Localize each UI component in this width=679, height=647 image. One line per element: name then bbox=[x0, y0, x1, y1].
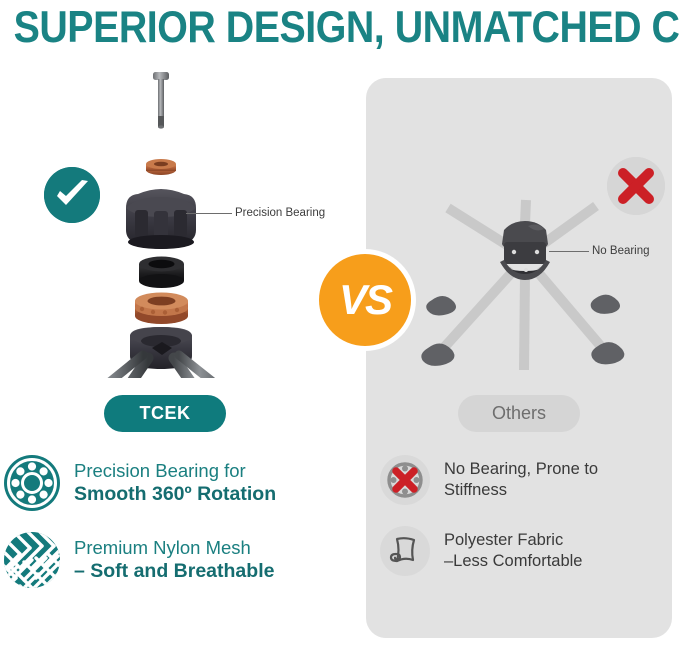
part-bolt bbox=[153, 72, 169, 129]
tcek-feature-list: Precision Bearing for Smooth 360º Rotati… bbox=[4, 455, 344, 609]
page-title: SUPERIOR DESIGN, UNMATCHED COMFORT bbox=[14, 2, 666, 53]
brand-pill-others: Others bbox=[458, 395, 580, 432]
feature-row-precision-bearing: Precision Bearing for Smooth 360º Rotati… bbox=[4, 455, 344, 511]
feature-text-precision-bearing: Precision Bearing for Smooth 360º Rotati… bbox=[74, 459, 276, 508]
feature-line-2: Smooth 360º Rotation bbox=[74, 482, 276, 507]
others-center-hub bbox=[500, 221, 550, 280]
part-spacer-ring bbox=[139, 257, 184, 289]
precision-bearing-leader-line bbox=[186, 213, 232, 214]
part-precision-bearing bbox=[135, 293, 188, 325]
feature-text-polyester-fabric: Polyester Fabric –Less Comfortable bbox=[444, 530, 583, 572]
fabric-roll-icon bbox=[380, 526, 430, 576]
feature-row-nylon-mesh: Premium Nylon Mesh – Soft and Breathable bbox=[4, 532, 344, 588]
feature-text-nylon-mesh: Premium Nylon Mesh – Soft and Breathable bbox=[74, 536, 274, 585]
others-feature-list: No Bearing, Prone to Stiffness Polyester… bbox=[380, 455, 670, 597]
feature-line-1: Precision Bearing for bbox=[74, 459, 276, 483]
feature-line-1: Polyester Fabric bbox=[444, 530, 583, 551]
no-bearing-callout: No Bearing bbox=[592, 245, 650, 257]
nylon-mesh-icon bbox=[4, 532, 60, 588]
part-small-bearing bbox=[146, 159, 176, 175]
vs-badge: VS bbox=[319, 254, 411, 346]
infographic-canvas: SUPERIOR DESIGN, UNMATCHED COMFORT bbox=[0, 0, 679, 647]
vs-label: VS bbox=[319, 254, 411, 346]
ball-bearing-icon bbox=[4, 455, 60, 511]
no-bearing-leader-line bbox=[549, 251, 589, 252]
brand-pill-tcek: TCEK bbox=[104, 395, 226, 432]
feature-line-1: No Bearing, Prone to bbox=[444, 459, 598, 480]
feature-row-no-bearing: No Bearing, Prone to Stiffness bbox=[380, 455, 670, 505]
feature-row-polyester-fabric: Polyester Fabric –Less Comfortable bbox=[380, 526, 670, 576]
feature-line-2: –Less Comfortable bbox=[444, 551, 583, 572]
no-bearing-x-icon bbox=[380, 455, 430, 505]
precision-bearing-callout: Precision Bearing bbox=[235, 207, 325, 219]
feature-line-2: Stiffness bbox=[444, 480, 598, 501]
feature-line-2: – Soft and Breathable bbox=[74, 559, 274, 584]
part-hub-cap bbox=[126, 189, 196, 249]
check-badge bbox=[44, 167, 100, 223]
feature-line-1: Premium Nylon Mesh bbox=[74, 536, 274, 560]
feature-text-no-bearing: No Bearing, Prone to Stiffness bbox=[444, 459, 598, 501]
x-badge bbox=[607, 157, 665, 215]
